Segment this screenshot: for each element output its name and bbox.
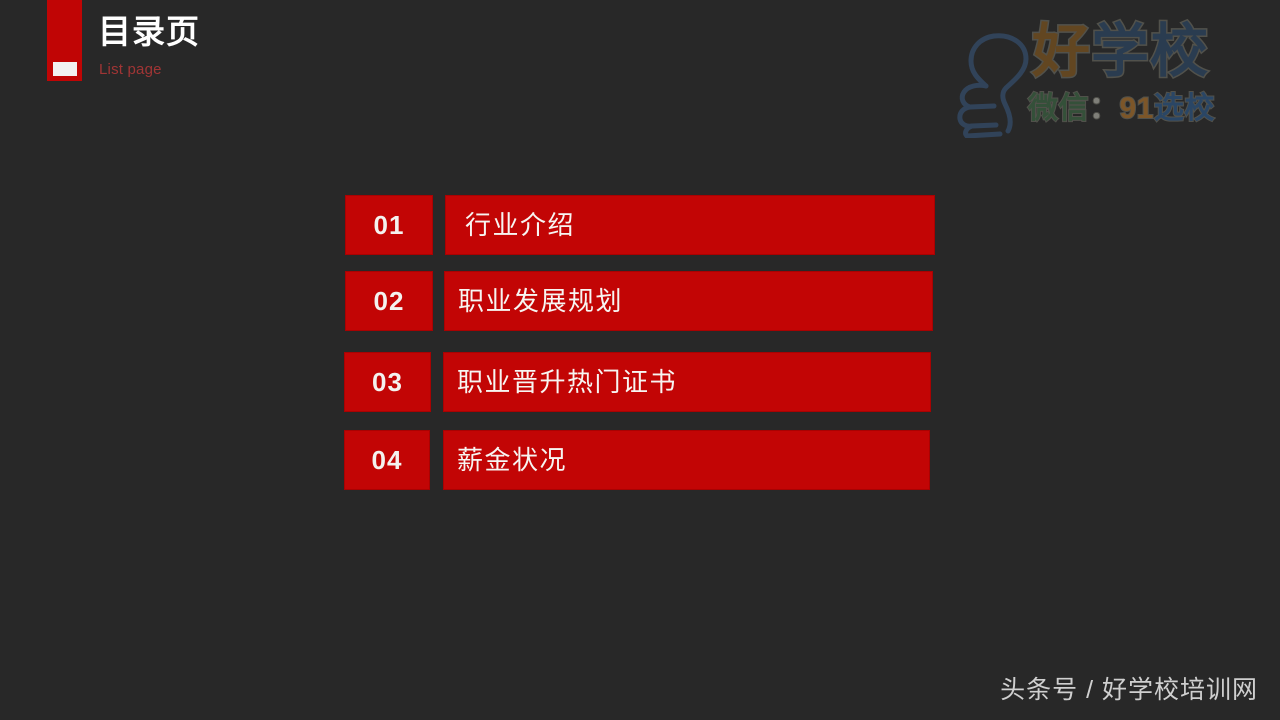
brand-name-part-1: 好 <box>1032 19 1091 84</box>
brand-watermark: 好学校 微信：91选校 <box>950 18 1235 143</box>
list-item-number-box[interactable]: 04 <box>344 430 430 490</box>
list-item-number-box[interactable]: 02 <box>345 271 433 331</box>
list-item-label-box[interactable]: 行业介绍 <box>445 195 935 255</box>
header-accent-notch <box>53 62 77 76</box>
brand-name-part-2: 学校 <box>1091 19 1209 84</box>
footer-credit: 头条号 / 好学校培训网 <box>1000 678 1258 703</box>
list-item-label: 职业发展规划 <box>444 288 623 314</box>
page-title: 目录页 <box>98 15 200 48</box>
wechat-id-text: 选校 <box>1154 92 1215 125</box>
page-subtitle: List page <box>99 62 162 77</box>
brand-wechat-line: 微信：91选校 <box>1028 94 1215 124</box>
list-item-number: 01 <box>374 212 405 238</box>
list-item-label-box[interactable]: 职业晋升热门证书 <box>443 352 931 412</box>
list-item-label: 薪金状况 <box>443 447 567 473</box>
list-item-number: 03 <box>372 369 403 395</box>
list-item-number-box[interactable]: 03 <box>344 352 431 412</box>
wechat-colon: ： <box>1089 92 1120 125</box>
list-item-label-box[interactable]: 薪金状况 <box>443 430 930 490</box>
list-item-number: 02 <box>374 288 405 314</box>
list-item-label: 行业介绍 <box>445 212 575 238</box>
wechat-label: 微信 <box>1028 92 1089 125</box>
slide-catalog-page: 目录页 List page 好学校 微信：91选校 0 <box>0 0 1280 720</box>
list-item-label: 职业晋升热门证书 <box>443 369 677 395</box>
list-item-number-box[interactable]: 01 <box>345 195 433 255</box>
brand-name: 好学校 <box>1032 23 1209 81</box>
list-item-number: 04 <box>372 447 403 473</box>
slide-header: 目录页 List page <box>0 0 420 110</box>
list-item-label-box[interactable]: 职业发展规划 <box>444 271 933 331</box>
wechat-id-number: 91 <box>1120 92 1154 125</box>
